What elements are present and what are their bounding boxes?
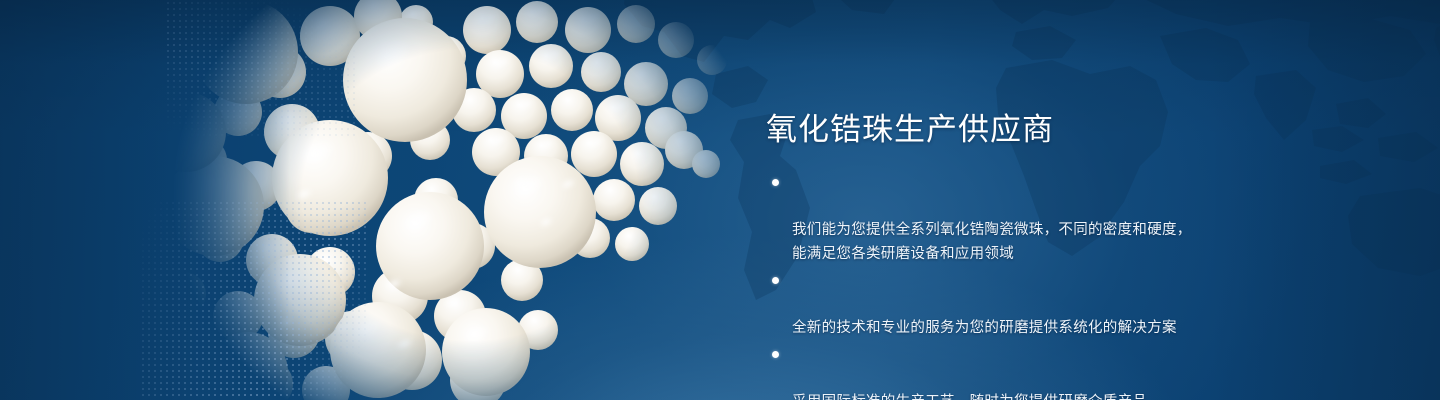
banner-feature-list: 我们能为您提供全系列氧化锆陶瓷微珠，不同的密度和硬度， 能满足您各类研磨设备和应… bbox=[768, 170, 1192, 400]
bullet-dot-icon bbox=[772, 277, 779, 284]
feature-list-item: 我们能为您提供全系列氧化锆陶瓷微珠，不同的密度和硬度， 能满足您各类研磨设备和应… bbox=[768, 170, 1192, 266]
bullet-dot-icon bbox=[772, 179, 779, 186]
feature-list-item: 采用国际标准的生产工艺，随时为您提供研磨介质产品 bbox=[768, 342, 1192, 400]
banner-content: 氧化锆珠生产供应商 我们能为您提供全系列氧化锆陶瓷微珠，不同的密度和硬度， 能满… bbox=[766, 0, 1406, 400]
banner-headline: 氧化锆珠生产供应商 bbox=[766, 110, 1054, 150]
hero-banner: 氧化锆珠生产供应商 我们能为您提供全系列氧化锆陶瓷微珠，不同的密度和硬度， 能满… bbox=[0, 0, 1440, 400]
feature-list-item-text: 全新的技术和专业的服务为您的研磨提供系统化的解决方案 bbox=[792, 320, 1177, 336]
feature-list-item-text: 采用国际标准的生产工艺，随时为您提供研磨介质产品 bbox=[792, 394, 1147, 400]
feature-list-item-text: 我们能为您提供全系列氧化锆陶瓷微珠，不同的密度和硬度， 能满足您各类研磨设备和应… bbox=[792, 222, 1192, 262]
bullet-dot-icon bbox=[772, 351, 779, 358]
feature-list-item: 全新的技术和专业的服务为您的研磨提供系统化的解决方案 bbox=[768, 268, 1192, 340]
